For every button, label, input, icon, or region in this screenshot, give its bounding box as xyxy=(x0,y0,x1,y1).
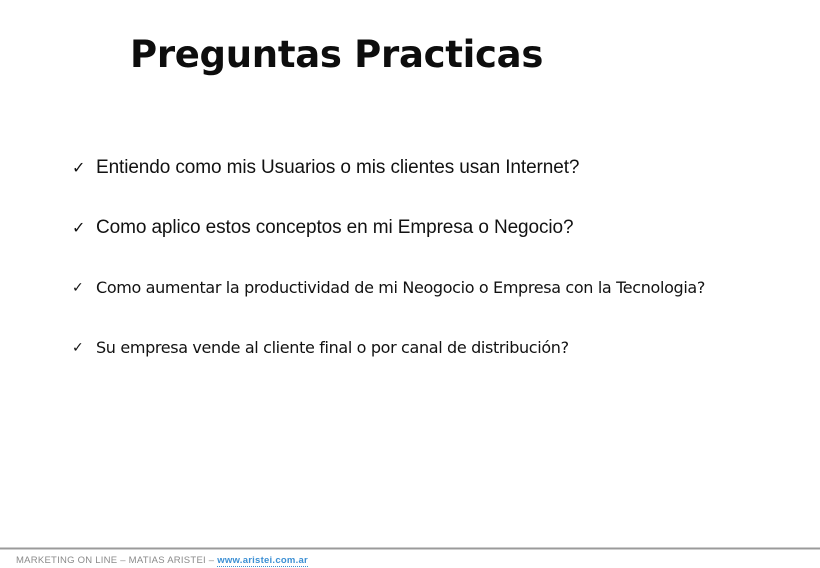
bullet-list: ✓ Entiendo como mis Usuarios o mis clien… xyxy=(0,155,820,395)
list-item: ✓ Su empresa vende al cliente final o po… xyxy=(0,335,820,395)
checkmark-icon: ✓ xyxy=(72,215,85,241)
presentation-slide: Preguntas Practicas ✓ Entiendo como mis … xyxy=(0,0,820,568)
footer: MARKETING ON LINE – MATIAS ARISTEI – www… xyxy=(16,554,308,567)
list-item: ✓ Entiendo como mis Usuarios o mis clien… xyxy=(0,155,820,215)
checkmark-icon: ✓ xyxy=(72,155,85,181)
list-item-label: Como aumentar la productividad de mi Neo… xyxy=(96,275,705,301)
checkmark-icon: ✓ xyxy=(72,335,84,361)
list-item: ✓ Como aplico estos conceptos en mi Empr… xyxy=(0,215,820,275)
footer-website-link[interactable]: www.aristei.com.ar xyxy=(217,555,308,567)
list-item: ✓ Como aumentar la productividad de mi N… xyxy=(0,275,820,335)
checkmark-icon: ✓ xyxy=(72,275,84,301)
footer-text: MARKETING ON LINE – MATIAS ARISTEI – xyxy=(16,555,217,566)
list-item-label: Entiendo como mis Usuarios o mis cliente… xyxy=(96,155,579,181)
page-title: Preguntas Practicas xyxy=(130,32,543,78)
list-item-label: Su empresa vende al cliente final o por … xyxy=(96,335,569,361)
list-item-label: Como aplico estos conceptos en mi Empres… xyxy=(96,215,573,241)
footer-divider xyxy=(0,547,820,550)
